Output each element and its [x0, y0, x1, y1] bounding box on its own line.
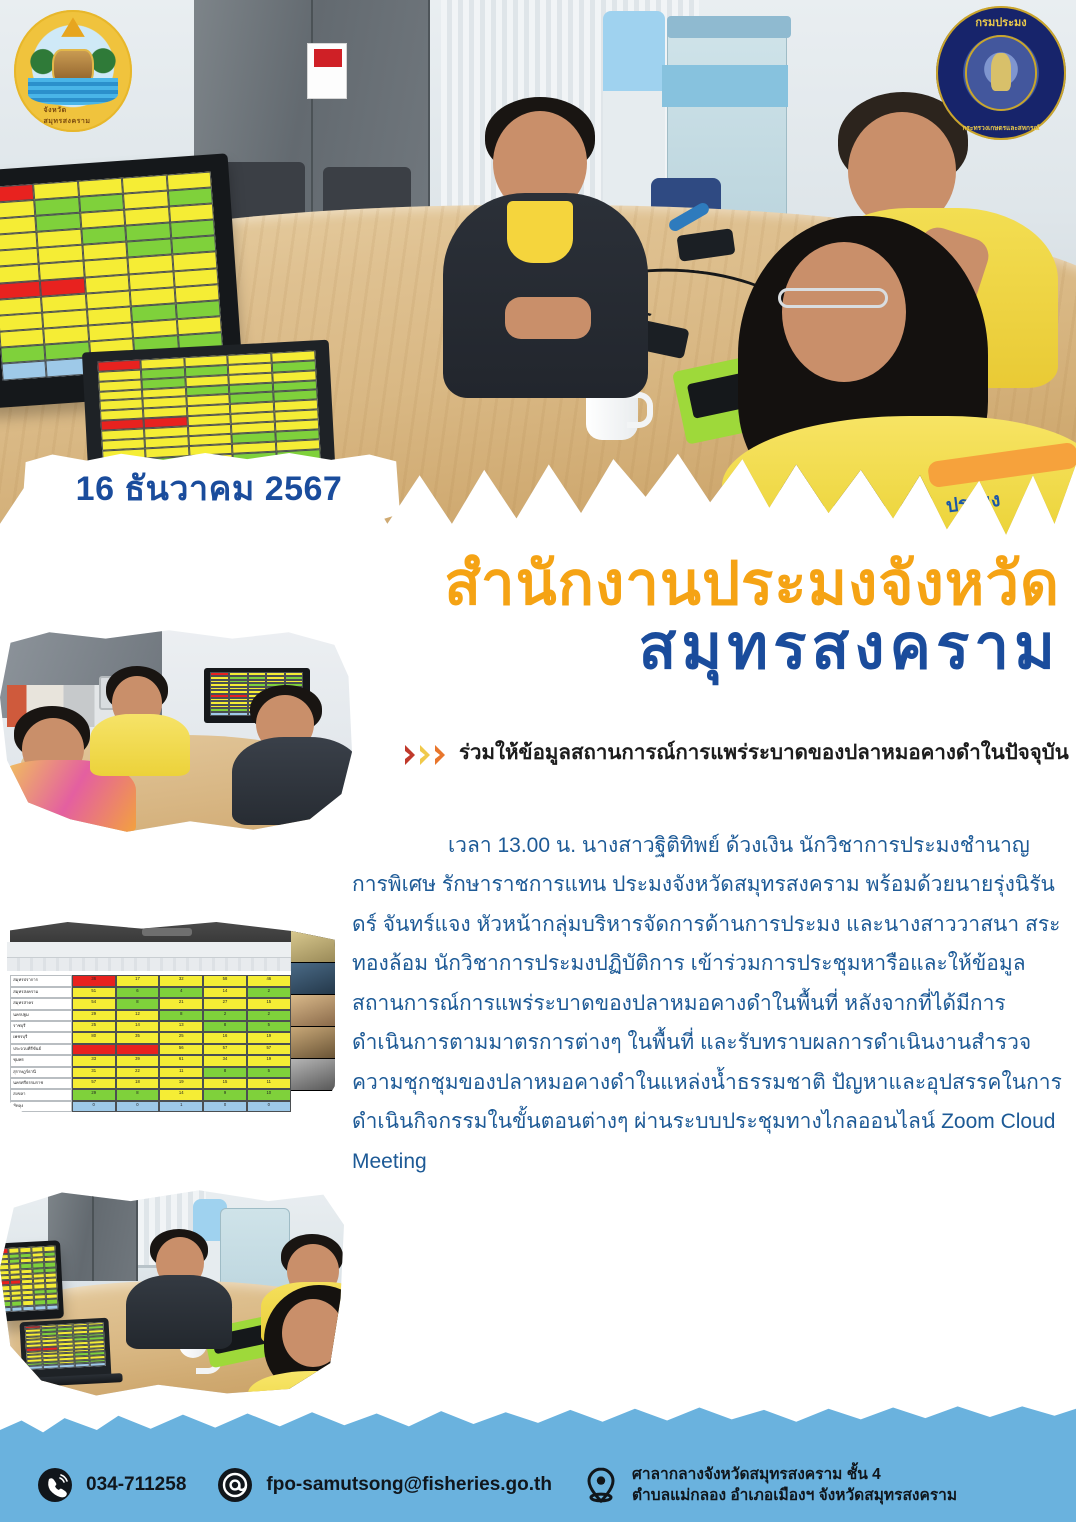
spreadsheet-cell: 19 [159, 1078, 203, 1089]
spreadsheet-cell [72, 1044, 116, 1055]
spreadsheet-row: สมุทรสาคร548212715 [10, 998, 291, 1009]
footer-contact-row: 034-711258 fpo-samutsong@fisheries.go.th [0, 1448, 1076, 1522]
person-seated-center [124, 1229, 234, 1349]
spreadsheet-cell: 57 [247, 1044, 291, 1055]
footer-email-item: fpo-samutsong@fisheries.go.th [216, 1466, 552, 1504]
spreadsheet-cell: 15 [247, 998, 291, 1009]
address-line-1: ศาลากลางจังหวัดสมุทรสงคราม ชั้น 4 [632, 1466, 881, 1483]
face [782, 242, 906, 382]
spreadsheet-cell [11, 1306, 23, 1312]
meeting-room-laptop-photo [0, 1186, 344, 1402]
yellow-polo-collar [507, 201, 573, 263]
spreadsheet-cell [210, 712, 229, 716]
spreadsheet-cell [90, 1362, 106, 1367]
spreadsheet-cell: 4 [159, 987, 203, 998]
spreadsheet-cell: 8 [116, 1089, 160, 1100]
spreadsheet-cell: 22 [116, 1067, 160, 1078]
yellow-polo-shirt [248, 1371, 344, 1402]
spreadsheet-cell: 2 [203, 1010, 247, 1021]
spreadsheet-cell [35, 1305, 47, 1311]
spreadsheet-row: ชุมพร3339613419 [10, 1055, 291, 1066]
spreadsheet-cell: 8 [203, 1067, 247, 1078]
province-label-cell: ราชบุรี [10, 1021, 72, 1032]
address-line-2: ตำบลแม่กลอง อำเภอเมืองฯ จังหวัดสมุทรสงคร… [632, 1487, 957, 1504]
title-line-2: สมุทรสงคราม [330, 615, 1060, 680]
spreadsheet-cell: 27 [203, 998, 247, 1009]
spreadsheet-cell: 0 [116, 1101, 160, 1112]
eyeglasses [778, 288, 888, 308]
chevron-group [404, 738, 447, 767]
spreadsheet-row: สุราษฎร์ธานี31221185 [10, 1067, 291, 1078]
wall-sign [307, 43, 347, 99]
spreadsheet-cell [42, 1365, 58, 1370]
province-label-cell: นครศรีธรรมราช [10, 1078, 72, 1089]
spreadsheet-cell: 25 [72, 1021, 116, 1032]
spreadsheet-cell: 8 [203, 1021, 247, 1032]
map-pin-icon [582, 1466, 620, 1504]
spreadsheet-cell: 2 [247, 1010, 291, 1021]
title-line-1: สำนักงานประมงจังหวัด [330, 552, 1060, 615]
spreadsheet-row: ประจวบคีรีขันธ์565757 [10, 1044, 291, 1055]
participant-tile [291, 1059, 335, 1091]
spreadsheet-cell [116, 1044, 160, 1055]
dark-jacket [126, 1275, 232, 1349]
spreadsheet-cell: 54 [72, 998, 116, 1009]
hands [505, 297, 591, 339]
spreadsheet-cell: 5 [247, 1021, 291, 1032]
spreadsheet-cell: 36 [72, 975, 116, 986]
spreadsheet-cell: 8 [159, 1010, 203, 1021]
province-label-cell: ชุมพร [10, 1055, 72, 1066]
spreadsheet-cell: 33 [72, 1055, 116, 1066]
spreadsheet-cell: 19 [247, 1055, 291, 1066]
wall-television [0, 1240, 64, 1321]
spreadsheet-cell: 11 [247, 1078, 291, 1089]
spreadsheet-cell: 17 [116, 975, 160, 986]
province-label-cell: สุราษฎร์ธานี [10, 1067, 72, 1078]
chevron-right-icon [434, 743, 447, 767]
seal-ring-text: จังหวัดสมุทรสงคราม [14, 10, 132, 132]
subheading-text: ร่วมให้ข้อมูลสถานการณ์การแพร่ระบาดของปลา… [459, 738, 1069, 767]
poster-root: ประมง จังหวัดสมุทรสงคราม กรมประมง กระทรว… [0, 0, 1076, 1522]
spreadsheet-cell: 61 [159, 1055, 203, 1066]
participant-tile [291, 1027, 335, 1059]
spreadsheet-cell: 8 [116, 998, 160, 1009]
chevron-right-icon [419, 743, 432, 767]
province-label-cell: สมุทรปราการ [10, 975, 72, 986]
spreadsheet-cell: 57 [72, 1078, 116, 1089]
page-title: สำนักงานประมงจังหวัด สมุทรสงคราม [330, 552, 1060, 680]
spreadsheet-cell [74, 1363, 90, 1368]
spreadsheet-cell: 11 [159, 1067, 203, 1078]
office-round-table-photo [0, 626, 352, 836]
person-right-front: ประมง [678, 216, 1076, 540]
fisheries-seal-bottom-text: กระทรวงเกษตรและสหกรณ์ [936, 123, 1066, 133]
spreadsheet-row: เพชรบุรี8035251619 [10, 1032, 291, 1043]
province-seal-label: จังหวัดสมุทรสงคราม [44, 105, 103, 127]
spreadsheet-cell [0, 1307, 11, 1313]
spreadsheet-row: พัทลุง00100 [10, 1101, 291, 1112]
yellow-polo-shirt [90, 714, 190, 776]
office-address: ศาลากลางจังหวัดสมุทรสงคราม ชั้น 4 ตำบลแม… [632, 1464, 957, 1507]
zoom-screenshare-photo: สมุทรปราการ3617325846สมุทรสงคราม5164142ส… [0, 922, 338, 1144]
spreadsheet-cell: 0 [247, 1101, 291, 1112]
spreadsheet-cell: 80 [72, 1032, 116, 1043]
phone-number[interactable]: 034-711258 [86, 1474, 186, 1496]
hero-meeting-room-photo: ประมง [0, 0, 1076, 540]
province-label-cell: ประจวบคีรีขันธ์ [10, 1044, 72, 1055]
spreadsheet-menubar [7, 942, 298, 958]
spreadsheet-cell: 14 [159, 1089, 203, 1100]
spreadsheet-cell: 58 [203, 975, 247, 986]
spreadsheet-cell [27, 1365, 43, 1370]
shirt-thai-text: ประมง [944, 485, 1002, 521]
tv-spreadsheet-screen [0, 1246, 59, 1313]
spreadsheet-cell: 29 [72, 1089, 116, 1100]
fisheries-seal-top-text: กรมประมง [936, 13, 1066, 31]
spreadsheet-row: สมุทรปราการ3617325846 [10, 975, 291, 986]
spreadsheet-cell [23, 1305, 35, 1311]
spreadsheet-cell: 14 [203, 987, 247, 998]
department-of-fisheries-seal: กรมประมง กระทรวงเกษตรและสหกรณ์ [936, 6, 1066, 140]
spreadsheet-toolbar [7, 958, 298, 971]
spreadsheet-cell: 21 [159, 998, 203, 1009]
person-seated-back [84, 666, 194, 776]
spreadsheet-cell: 35 [116, 1032, 160, 1043]
footer-address-item: ศาลากลางจังหวัดสมุทรสงคราม ชั้น 4 ตำบลแม… [582, 1464, 957, 1507]
spreadsheet-cell: 0 [203, 1101, 247, 1112]
spreadsheet-row: สงขลา29814910 [10, 1089, 291, 1100]
spreadsheet-row: สมุทรสงคราม5164142 [10, 987, 291, 998]
spreadsheet-cell: 56 [159, 1044, 203, 1055]
spreadsheet-cell: 16 [203, 1032, 247, 1043]
spreadsheet-cell: 9 [203, 1089, 247, 1100]
spreadsheet-cell: 1 [159, 1101, 203, 1112]
spreadsheet-cell: 14 [116, 1021, 160, 1032]
shared-spreadsheet: สมุทรปราการ3617325846สมุทรสงคราม5164142ส… [10, 975, 291, 1113]
spreadsheet-row: นครศรีธรรมราช5718191511 [10, 1078, 291, 1089]
participant-tile [291, 963, 335, 995]
spreadsheet-cell [47, 1304, 59, 1310]
spreadsheet-cell: 13 [159, 1021, 203, 1032]
province-label-cell: สมุทรสงคราม [10, 987, 72, 998]
spreadsheet-cell: 32 [159, 975, 203, 986]
spreadsheet-cell [58, 1364, 74, 1369]
side-table-cloth [662, 65, 788, 107]
spreadsheet-cell: 29 [72, 1010, 116, 1021]
province-label-cell: สงขลา [10, 1089, 72, 1100]
spreadsheet-cell: 18 [116, 1078, 160, 1089]
spreadsheet-cell: 19 [247, 1032, 291, 1043]
dark-jacket [232, 737, 352, 825]
laptop-computer [19, 1318, 111, 1383]
spreadsheet-cell: 5 [247, 1067, 291, 1078]
footer-phone-item: 034-711258 [36, 1466, 186, 1504]
person-right-front [234, 1285, 344, 1402]
body-paragraph: เวลา 13.00 น. นางสาวฐิติทิพย์ ด้วงเงิน น… [352, 826, 1064, 1181]
province-label-cell: เพชรบุรี [10, 1032, 72, 1043]
phone-icon [36, 1466, 74, 1504]
spreadsheet-row: ราชบุรี25141385 [10, 1021, 291, 1032]
zoom-window-titlebar [10, 922, 324, 942]
at-sign-icon [216, 1466, 254, 1504]
province-label-cell: สมุทรสาคร [10, 998, 72, 1009]
participant-tile [291, 931, 335, 963]
spreadsheet-cell [2, 361, 47, 380]
spreadsheet-cell: 57 [203, 1044, 247, 1055]
province-label-cell: นครปฐม [10, 1010, 72, 1021]
participant-video-strip [291, 931, 335, 1091]
spreadsheet-cell: 10 [247, 1089, 291, 1100]
spreadsheet-cell: 0 [72, 1101, 116, 1112]
spreadsheet-cell: 15 [203, 1078, 247, 1089]
laptop-screen [25, 1322, 106, 1371]
spreadsheet-cell: 6 [116, 987, 160, 998]
date-badge: 16 ธันวาคม 2567 [18, 450, 400, 526]
spreadsheet-cell: 39 [116, 1055, 160, 1066]
fisheries-emblem [965, 35, 1038, 110]
spreadsheet-row: นครปฐม2912822 [10, 1010, 291, 1021]
chevron-right-icon [404, 743, 417, 767]
person-seated-center [441, 97, 651, 397]
face [282, 1299, 344, 1367]
spreadsheet-cell: 25 [159, 1032, 203, 1043]
spreadsheet-cell: 46 [247, 975, 291, 986]
spreadsheet-cell: 12 [116, 1010, 160, 1021]
province-label-cell: พัทลุง [10, 1101, 72, 1112]
subheading-block: ร่วมให้ข้อมูลสถานการณ์การแพร่ระบาดของปลา… [404, 738, 1072, 767]
person-right-facing-screen [232, 685, 352, 825]
spreadsheet-cell: 31 [72, 1067, 116, 1078]
spreadsheet-cell: 34 [203, 1055, 247, 1066]
provincial-seal: จังหวัดสมุทรสงคราม [14, 10, 132, 132]
fridge-top [667, 16, 791, 38]
spreadsheet-cell: 2 [247, 987, 291, 998]
date-text: 16 ธันวาคม 2567 [76, 461, 343, 515]
participant-tile [291, 995, 335, 1027]
spreadsheet-cell: 51 [72, 987, 116, 998]
email-address[interactable]: fpo-samutsong@fisheries.go.th [266, 1474, 552, 1496]
